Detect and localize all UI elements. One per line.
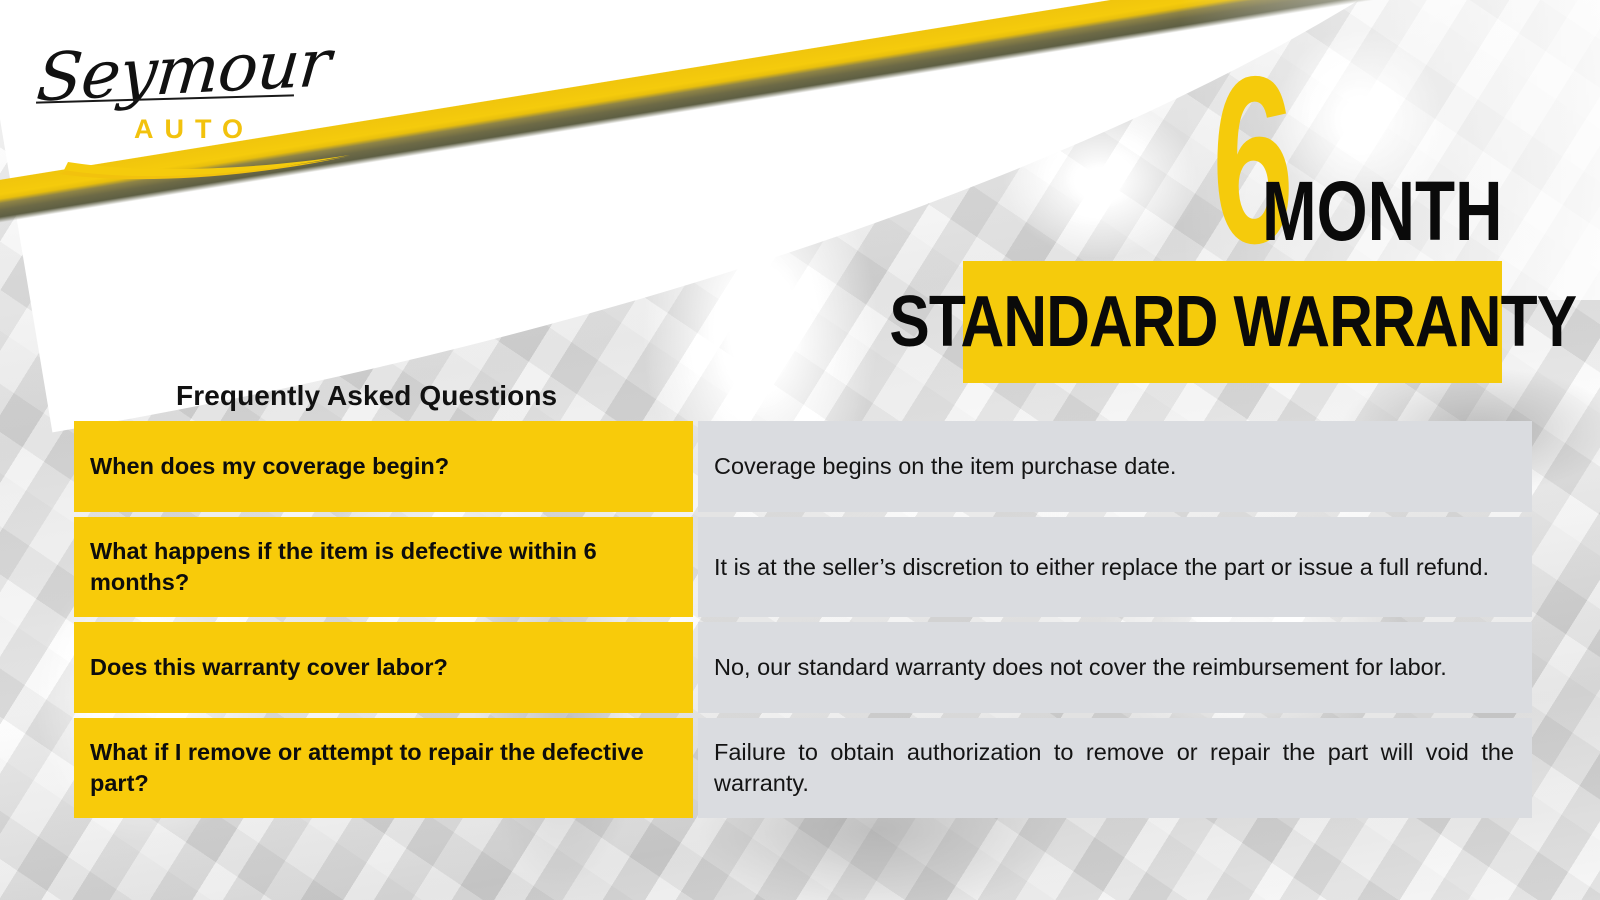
faq-answer-text: It is at the seller’s discretion to eith… xyxy=(714,552,1514,583)
faq-table: When does my coverage begin? Coverage be… xyxy=(74,421,1532,818)
faq-row: Does this warranty cover labor? No, our … xyxy=(74,622,1532,713)
faq-question-cell: When does my coverage begin? xyxy=(74,421,693,512)
faq-answer-cell: It is at the seller’s discretion to eith… xyxy=(698,517,1532,617)
faq-question-cell: What if I remove or attempt to repair th… xyxy=(74,718,693,818)
faq-answer-text: No, our standard warranty does not cover… xyxy=(714,652,1514,683)
faq-question-text: What happens if the item is defective wi… xyxy=(90,536,677,597)
logo-swoosh-icon xyxy=(58,140,354,184)
faq-question-cell: Does this warranty cover labor? xyxy=(74,622,693,713)
seymour-auto-logo[interactable]: Seymour AUTO xyxy=(30,22,330,182)
faq-row: What happens if the item is defective wi… xyxy=(74,517,1532,617)
warranty-slide: Seymour AUTO 6 MONTH STANDARD WARRANTY F… xyxy=(0,0,1600,900)
faq-answer-text: Failure to obtain authorization to remov… xyxy=(714,737,1514,798)
faq-question-text: What if I remove or attempt to repair th… xyxy=(90,737,677,798)
faq-question-text: Does this warranty cover labor? xyxy=(90,652,448,683)
warranty-banner-title: STANDARD WARRANTY xyxy=(889,286,1576,358)
faq-answer-cell: Failure to obtain authorization to remov… xyxy=(698,718,1532,818)
faq-question-text: When does my coverage begin? xyxy=(90,451,449,482)
faq-row: When does my coverage begin? Coverage be… xyxy=(74,421,1532,512)
logo-script-name: Seymour xyxy=(34,24,333,116)
faq-question-cell: What happens if the item is defective wi… xyxy=(74,517,693,617)
warranty-banner: STANDARD WARRANTY xyxy=(963,261,1502,383)
duration-headline: 6 MONTH xyxy=(1212,78,1563,254)
duration-unit: MONTH xyxy=(1262,178,1503,246)
faq-answer-text: Coverage begins on the item purchase dat… xyxy=(714,451,1514,482)
faq-answer-cell: No, our standard warranty does not cover… xyxy=(698,622,1532,713)
faq-answer-cell: Coverage begins on the item purchase dat… xyxy=(698,421,1532,512)
faq-row: What if I remove or attempt to repair th… xyxy=(74,718,1532,818)
faq-heading: Frequently Asked Questions xyxy=(176,380,557,412)
